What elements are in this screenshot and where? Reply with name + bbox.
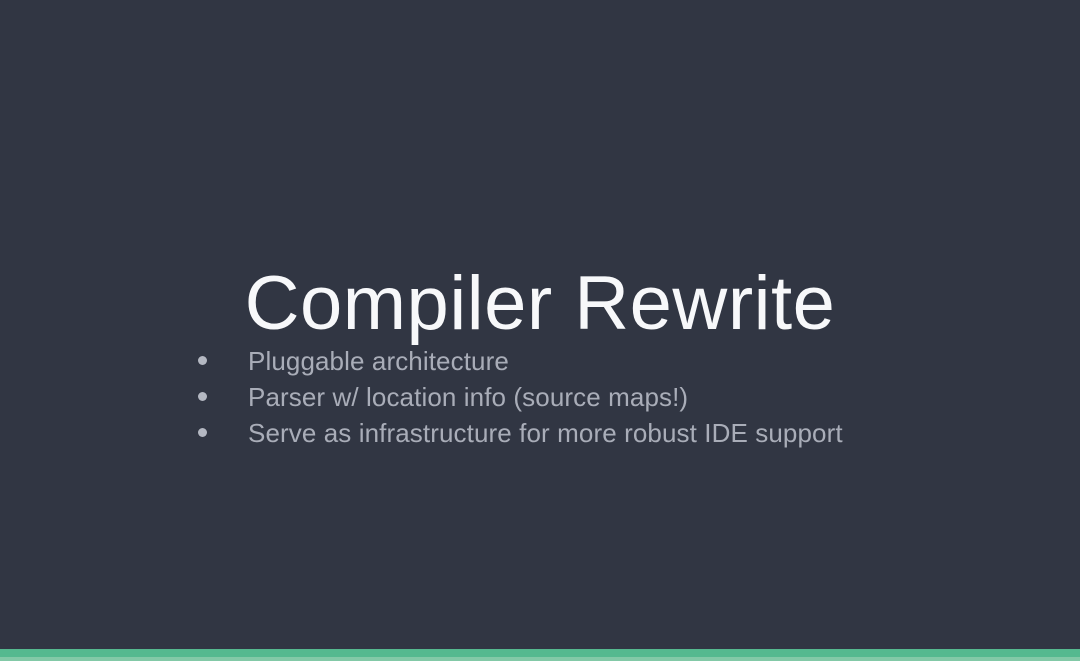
list-item: Pluggable architecture [198,343,1058,379]
list-item: Parser w/ location info (source maps!) [198,379,1058,415]
list-item-label: Serve as infrastructure for more robust … [248,415,843,451]
list-item: Serve as infrastructure for more robust … [198,415,1058,451]
bullet-dot-icon [198,356,207,365]
list-item-label: Parser w/ location info (source maps!) [248,379,688,415]
accent-bar-secondary [0,657,1080,661]
presentation-slide: Compiler Rewrite Pluggable architecture … [0,0,1080,661]
bullet-dot-icon [198,392,207,401]
slide-bullet-list: Pluggable architecture Parser w/ locatio… [198,343,1058,451]
list-item-label: Pluggable architecture [248,343,509,379]
slide-title: Compiler Rewrite [0,256,1080,352]
accent-bar-primary [0,649,1080,657]
bullet-dot-icon [198,428,207,437]
